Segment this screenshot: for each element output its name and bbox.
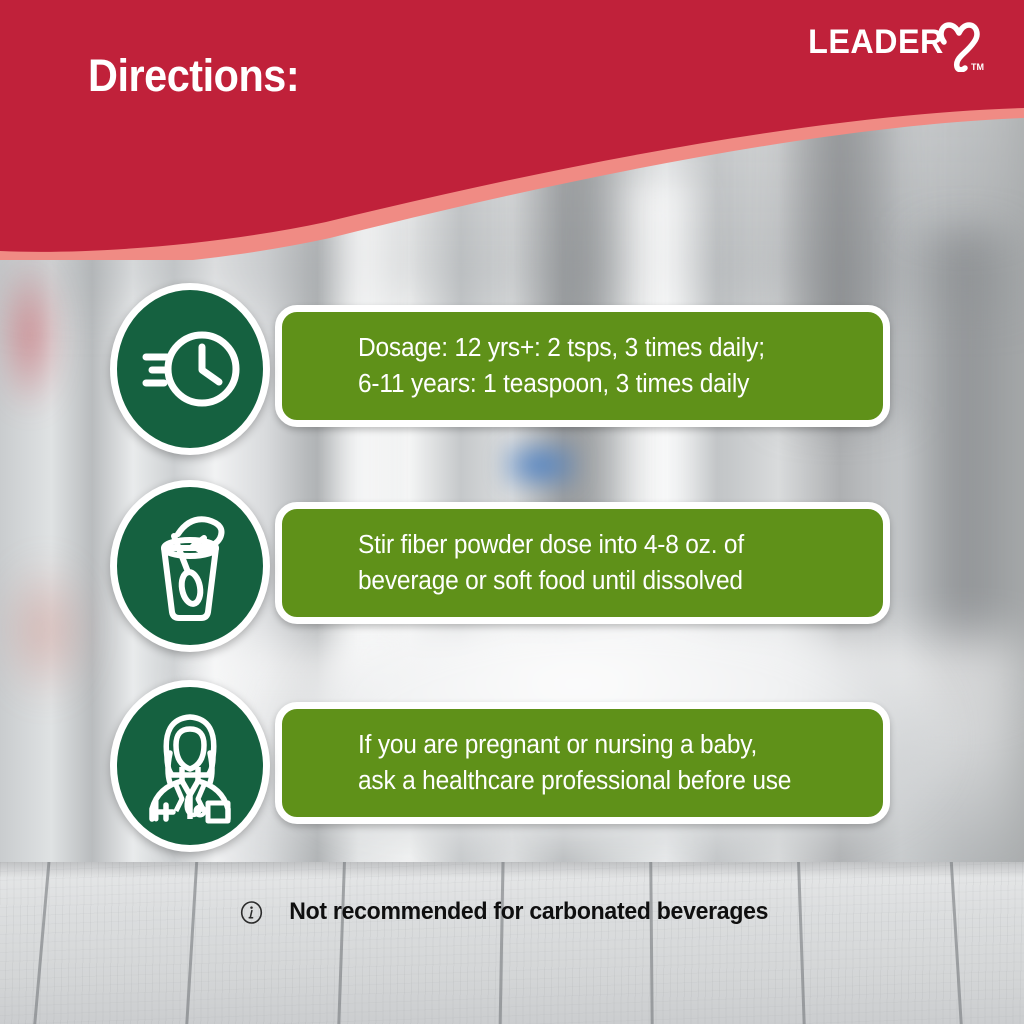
floor-top-shadow xyxy=(0,862,1024,878)
infographic-canvas: Directions: LEADER TM Dosage: 12 yrs+: 2… xyxy=(0,0,1024,1024)
list-item: Dosage: 12 yrs+: 2 tsps, 3 times daily; … xyxy=(110,283,900,458)
list-item: If you are pregnant or nursing a baby, a… xyxy=(110,680,900,855)
step-text: Stir fiber powder dose into 4-8 oz. of b… xyxy=(358,527,744,599)
list-item: Stir fiber powder dose into 4-8 oz. of b… xyxy=(110,480,900,655)
stir-glass-icon xyxy=(134,508,246,624)
step-icon-badge xyxy=(110,480,270,652)
step-card: Stir fiber powder dose into 4-8 oz. of b… xyxy=(275,502,890,624)
clock-icon xyxy=(134,313,246,425)
step-icon-badge xyxy=(110,283,270,455)
healthcare-professional-icon xyxy=(132,707,248,825)
step-card: Dosage: 12 yrs+: 2 tsps, 3 times daily; … xyxy=(275,305,890,427)
info-icon xyxy=(240,901,263,924)
wood-floor xyxy=(0,862,1024,1024)
step-icon-badge xyxy=(110,680,270,852)
footer-note-text: Not recommended for carbonated beverages xyxy=(290,898,769,926)
step-text: If you are pregnant or nursing a baby, a… xyxy=(358,727,791,799)
footer-note: Not recommended for carbonated beverages xyxy=(0,898,1024,926)
floor-grain xyxy=(0,862,1024,1024)
step-text: Dosage: 12 yrs+: 2 tsps, 3 times daily; … xyxy=(358,330,765,402)
step-card: If you are pregnant or nursing a baby, a… xyxy=(275,702,890,824)
